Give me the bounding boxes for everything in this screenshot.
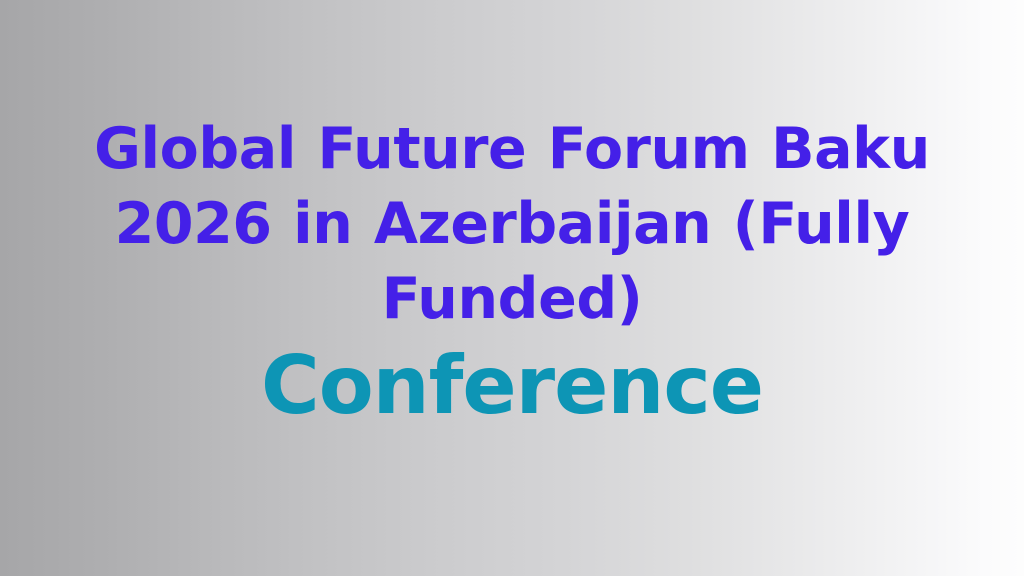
banner-text-stack: Global Future Forum Baku 2026 in Azerbai… [0, 0, 1024, 576]
banner-headline: Global Future Forum Baku 2026 in Azerbai… [72, 112, 952, 338]
banner-subtitle: Conference [32, 346, 992, 426]
banner-graphic: Global Future Forum Baku 2026 in Azerbai… [0, 0, 1024, 576]
